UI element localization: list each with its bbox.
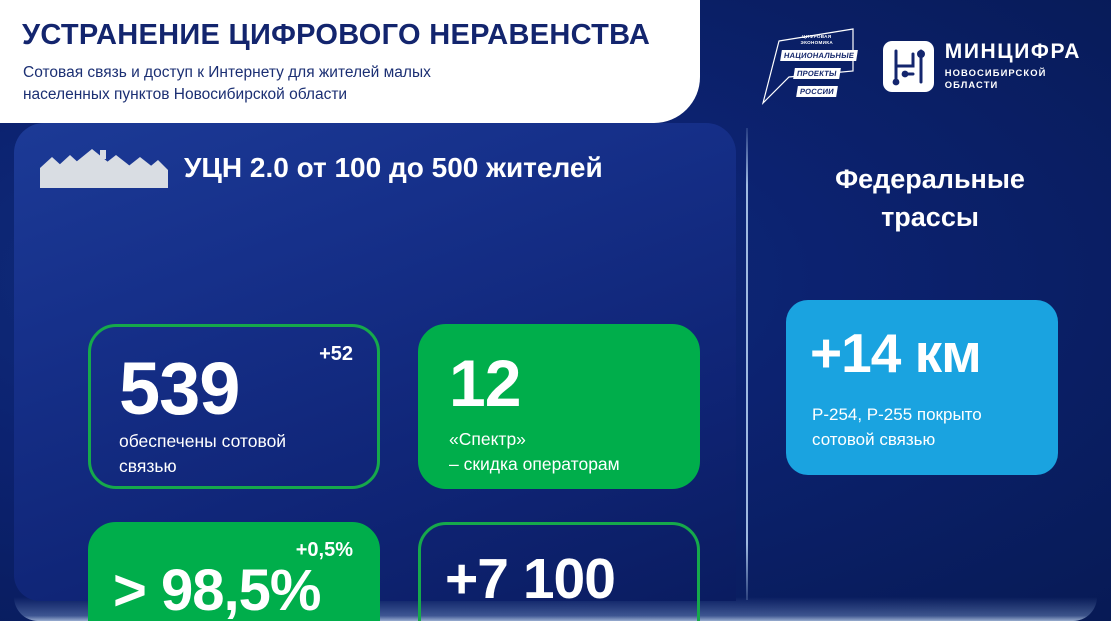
stat-card-spectr-discount: 12 «Спектр» – скидка операторам xyxy=(418,324,700,489)
national-projects-text: ЦИФРОВАЯ ЭКОНОМИКА НАЦИОНАЛЬНЫЕ ПРОЕКТЫ … xyxy=(781,34,853,99)
page-subtitle: Сотовая связь и доступ к Интернету для ж… xyxy=(23,62,623,106)
stat-label-line1: обеспечены сотовой xyxy=(119,431,286,451)
logo-group: ЦИФРОВАЯ ЭКОНОМИКА НАЦИОНАЛЬНЫЕ ПРОЕКТЫ … xyxy=(761,27,1081,105)
infographic-page: УЦН 2.0 от 100 до 500 жителей 539 +52 об… xyxy=(0,0,1111,621)
mincifra-region: НОВОСИБИРСКОЙ ОБЛАСТИ xyxy=(945,67,1081,91)
page-subtitle-line1: Сотовая связь и доступ к Интернету для ж… xyxy=(23,64,431,81)
stat-label-line2: сотовой связью xyxy=(812,430,935,449)
stat-label: обеспечены сотовой связью xyxy=(119,429,359,479)
stat-card-cellular-coverage: 539 +52 обеспечены сотовой связью xyxy=(88,324,380,489)
federal-highways-title: Федеральные трассы xyxy=(770,160,1090,236)
stat-badge: +52 xyxy=(319,344,353,364)
page-subtitle-line2: населенных пунктов Новосибирской области xyxy=(23,86,347,103)
np-big-line2: ПРОЕКТЫ xyxy=(793,68,840,79)
mincifra-wordmark: МИНЦИФРА НОВОСИБИРСКОЙ ОБЛАСТИ xyxy=(945,41,1081,91)
stat-value: 539 xyxy=(119,352,239,426)
mincifra-circuit-icon xyxy=(883,41,934,92)
section-title: УЦН 2.0 от 100 до 500 жителей xyxy=(184,152,603,184)
stat-badge: +0,5% xyxy=(296,540,353,560)
section-header: УЦН 2.0 от 100 до 500 жителей xyxy=(36,144,603,192)
national-projects-logo: ЦИФРОВАЯ ЭКОНОМИКА НАЦИОНАЛЬНЫЕ ПРОЕКТЫ … xyxy=(761,27,857,105)
page-title: УСТРАНЕНИЕ ЦИФРОВОГО НЕРАВЕНСТВА xyxy=(22,19,650,52)
stat-label-line2: связью xyxy=(119,456,177,476)
header-panel: УСТРАНЕНИЕ ЦИФРОВОГО НЕРАВЕНСТВА Сотовая… xyxy=(0,0,700,123)
vertical-divider xyxy=(746,128,748,600)
federal-highways-title-line2: трассы xyxy=(881,202,979,232)
stat-card-highway-coverage: +14 км Р-254, Р-255 покрыто сотовой связ… xyxy=(786,300,1058,475)
mincifra-name: МИНЦИФРА xyxy=(945,41,1081,62)
stat-label-line1: «Спектр» xyxy=(449,429,526,449)
np-small-line2: ЭКОНОМИКА xyxy=(781,40,853,46)
np-big-line1: НАЦИОНАЛЬНЫЕ xyxy=(780,50,858,61)
stat-value: +7 100 xyxy=(445,551,615,608)
mincifra-region-line2: ОБЛАСТИ xyxy=(945,79,999,90)
mincifra-logo: МИНЦИФРА НОВОСИБИРСКОЙ ОБЛАСТИ xyxy=(883,41,1081,92)
mincifra-region-line1: НОВОСИБИРСКОЙ xyxy=(945,67,1047,78)
stat-label: «Спектр» – скидка операторам xyxy=(449,427,679,477)
stat-label-line1: Р-254, Р-255 покрыто xyxy=(812,405,982,424)
houses-icon xyxy=(36,144,168,192)
stat-value: 12 xyxy=(449,350,520,416)
stat-value: > 98,5% xyxy=(113,562,320,620)
stat-card-household-share: > 98,5% +0,5% доля домохозяйств, обеспеч… xyxy=(88,522,380,621)
stat-card-mobile-broadband: +7 100 человек обеспечены мобильным ШПД xyxy=(418,522,700,621)
federal-highways-title-line1: Федеральные xyxy=(835,164,1025,194)
np-big-line3: РОССИИ xyxy=(796,86,838,97)
stat-value: +14 км xyxy=(810,326,981,381)
main-content-panel: УЦН 2.0 от 100 до 500 жителей 539 +52 об… xyxy=(14,123,736,601)
stat-label: Р-254, Р-255 покрыто сотовой связью xyxy=(812,402,1042,452)
stat-label-line2: – скидка операторам xyxy=(449,454,620,474)
